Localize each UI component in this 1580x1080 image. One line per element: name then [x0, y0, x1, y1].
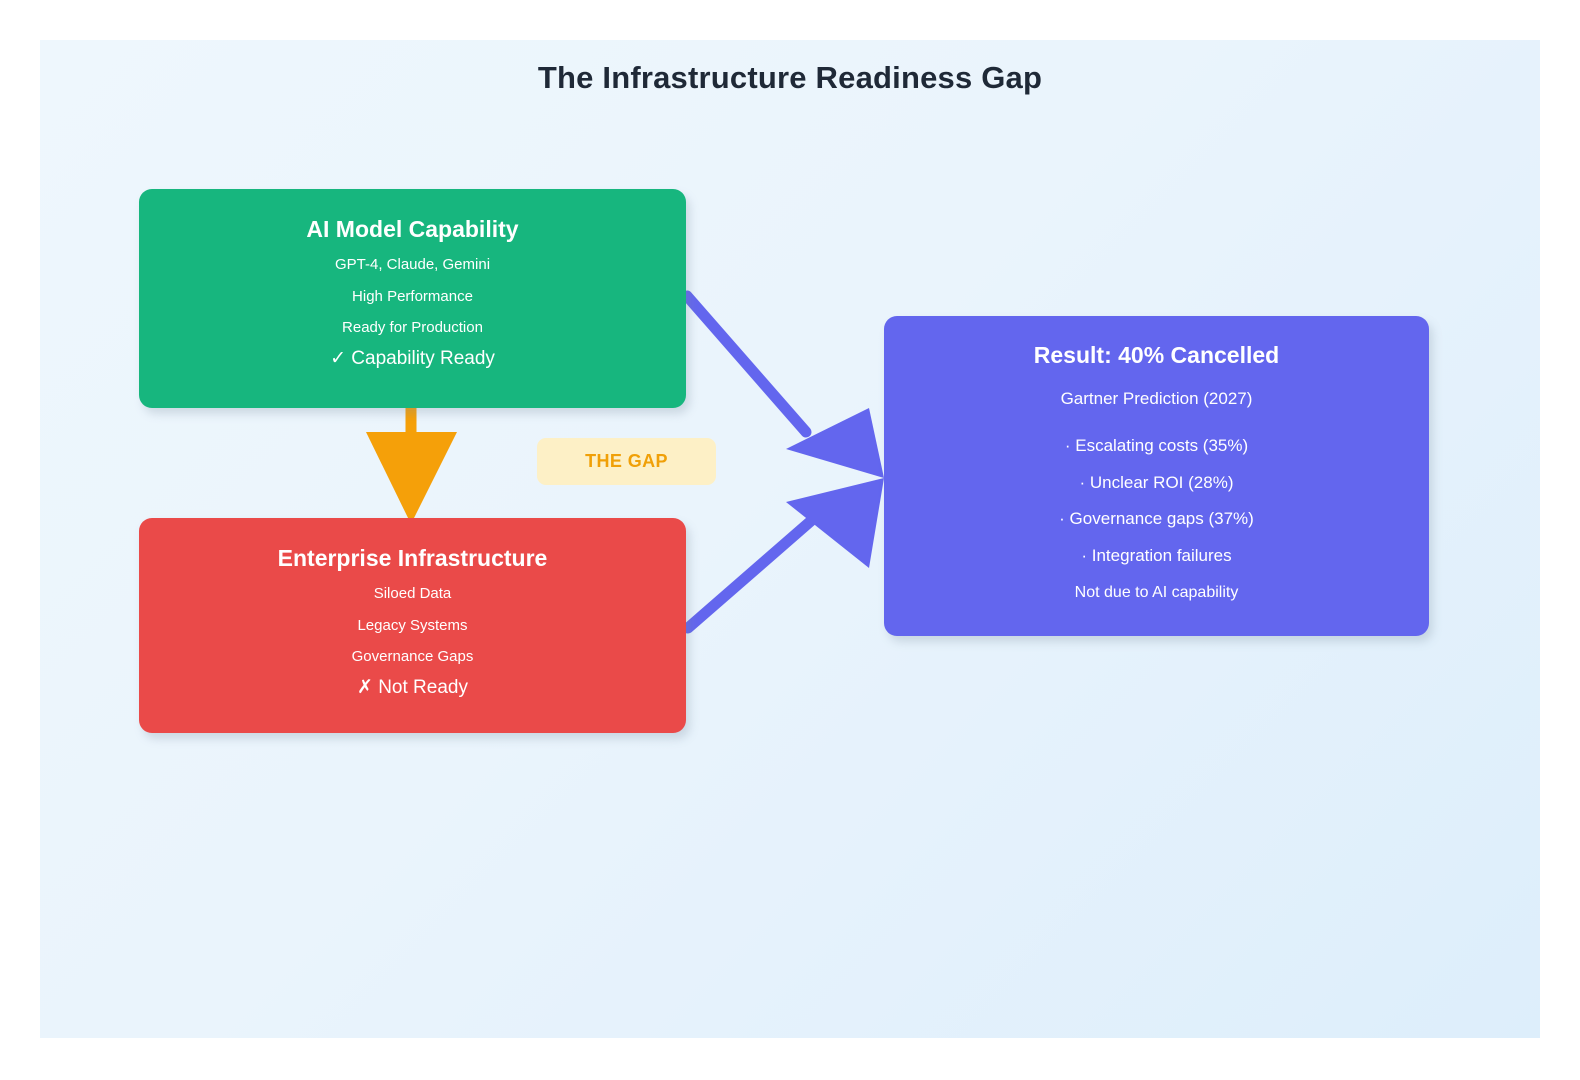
- result-footnote: Not due to AI capability: [884, 584, 1429, 602]
- status-badge-capability-ready: ✓ Capability Ready: [139, 349, 686, 370]
- list-item: · Integration failures: [884, 547, 1429, 566]
- node-title: Enterprise Infrastructure: [139, 546, 686, 571]
- diagram-stage: The Infrastructure Readiness Gap AI Mode…: [0, 0, 1580, 1080]
- status-badge-not-ready: ✗ Not Ready: [139, 678, 686, 699]
- node-detail-line: Legacy Systems: [139, 618, 686, 635]
- node-detail-line: Governance Gaps: [139, 649, 686, 666]
- node-ai-model-capability[interactable]: AI Model Capability GPT-4, Claude, Gemin…: [139, 189, 686, 408]
- list-item: · Unclear ROI (28%): [884, 474, 1429, 493]
- gap-badge: THE GAP: [537, 438, 716, 485]
- node-detail-line: GPT-4, Claude, Gemini: [139, 257, 686, 274]
- node-subtitle: Gartner Prediction (2027): [884, 390, 1429, 409]
- result-bullet-list: · Escalating costs (35%) · Unclear ROI (…: [884, 437, 1429, 566]
- node-detail-line: Siloed Data: [139, 586, 686, 603]
- page-title: The Infrastructure Readiness Gap: [0, 60, 1580, 96]
- node-result[interactable]: Result: 40% Cancelled Gartner Prediction…: [884, 316, 1429, 636]
- node-title: Result: 40% Cancelled: [884, 343, 1429, 368]
- node-detail-line: High Performance: [139, 289, 686, 306]
- list-item: · Governance gaps (37%): [884, 510, 1429, 529]
- node-title: AI Model Capability: [139, 217, 686, 242]
- gap-badge-label: THE GAP: [585, 451, 668, 472]
- node-enterprise-infrastructure[interactable]: Enterprise Infrastructure Siloed Data Le…: [139, 518, 686, 733]
- list-item: · Escalating costs (35%): [884, 437, 1429, 456]
- node-detail-line: Ready for Production: [139, 320, 686, 337]
